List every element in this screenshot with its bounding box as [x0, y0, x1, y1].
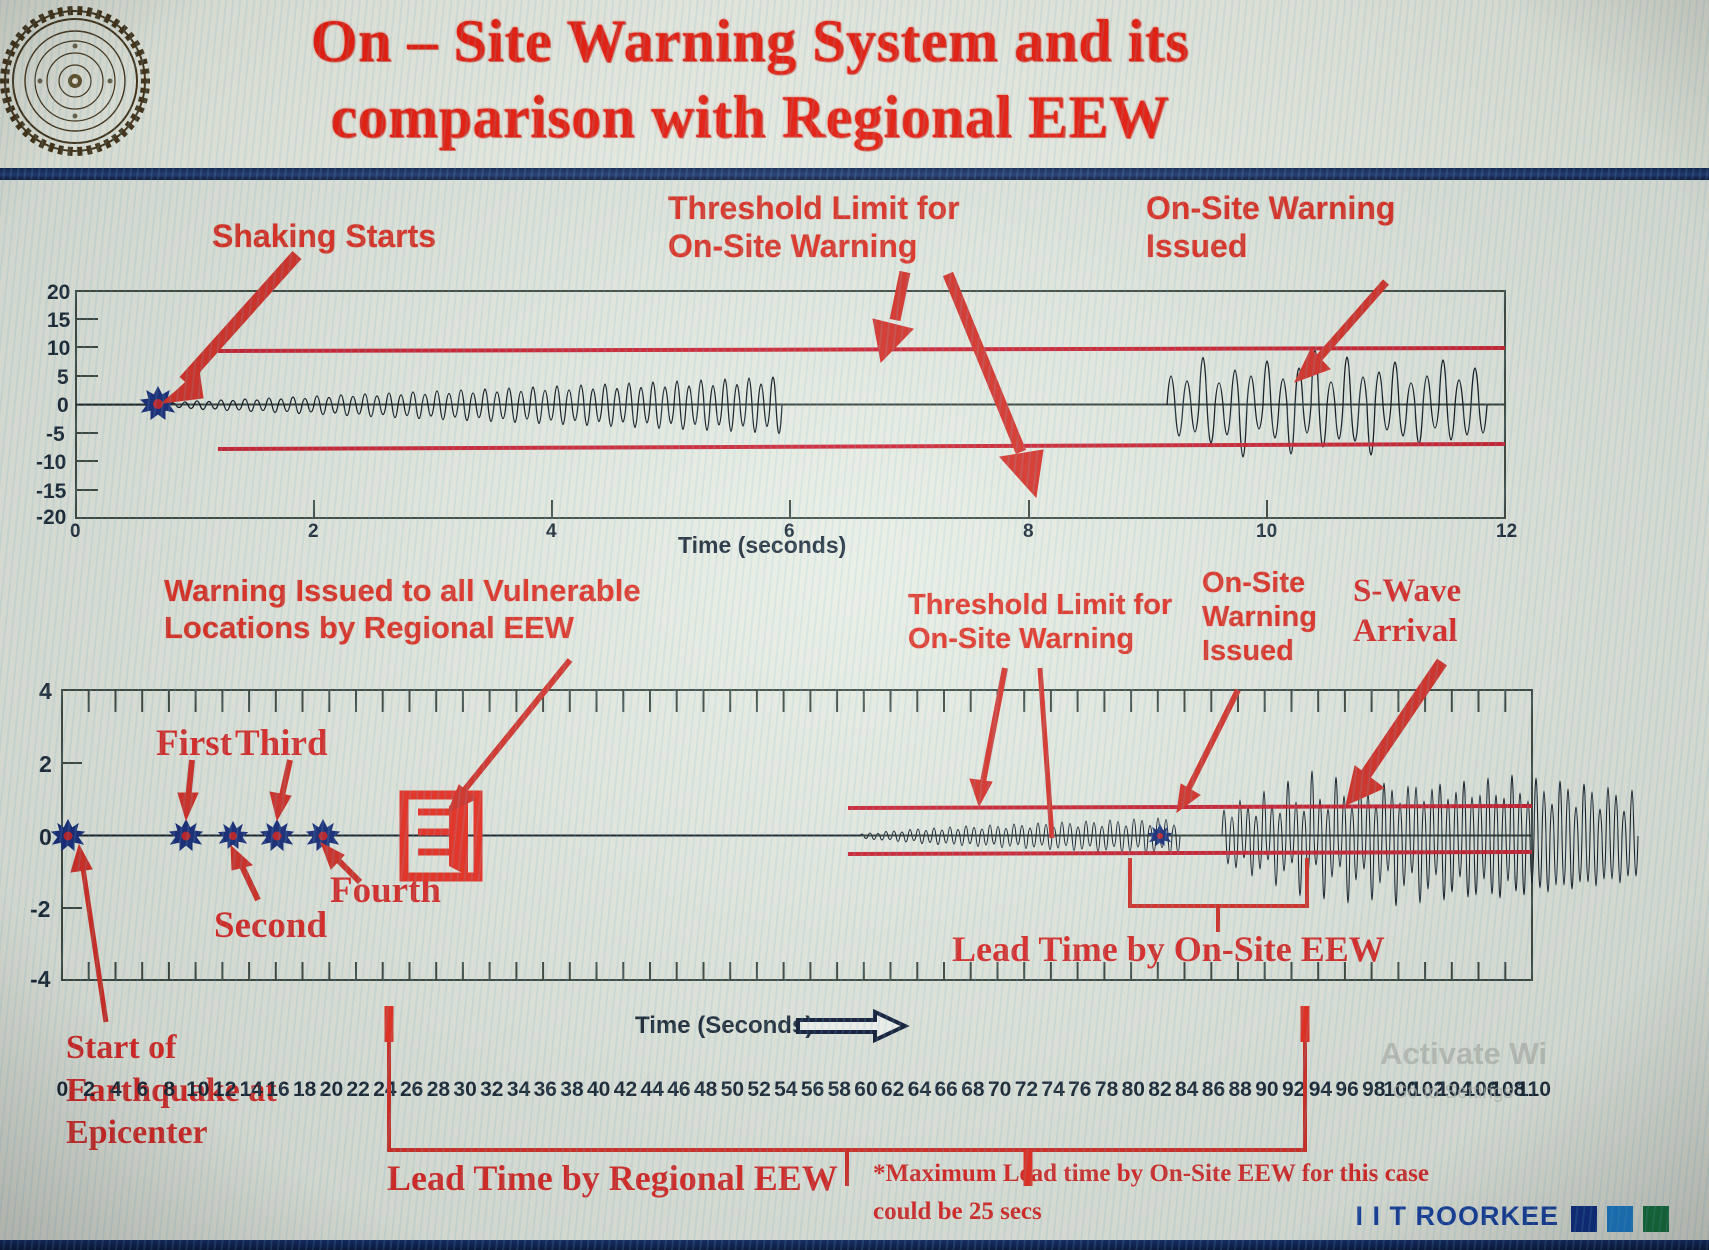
- bottom-chart-threshold-lower: [848, 852, 1532, 854]
- bottom-chart-svg: [0, 0, 1709, 1250]
- bottom-chart-xticks-bottom: [62, 962, 1532, 980]
- bottom-chart-xticks-top: [62, 690, 1532, 712]
- arrow-start-of-earthquake: [71, 845, 106, 1022]
- arrow-fourth: [321, 843, 360, 882]
- arrow-onsite-warning-issued-bottom: [1177, 690, 1238, 812]
- bottom-chart-event-marker-third: [261, 820, 293, 850]
- brace-lead-time-regional: [389, 1012, 1305, 1186]
- bottom-chart-event-marker-first: [170, 820, 202, 850]
- bottom-chart-event-marker-second: [219, 822, 247, 848]
- bottom-chart-trace-s: [1222, 771, 1638, 906]
- bottom-chart-trace-p: [860, 818, 1180, 855]
- bottom-chart-threshold-upper: [848, 806, 1532, 808]
- arrow-s-wave-arrival: [1346, 662, 1442, 805]
- brace-lead-time-onsite: [1130, 858, 1307, 932]
- arrow-third: [270, 760, 291, 820]
- time-direction-arrow-icon: [798, 1012, 905, 1040]
- slide-canvas: On – Site Warning System and its compari…: [0, 0, 1709, 1250]
- arrow-first: [178, 760, 198, 820]
- arrow-second: [231, 846, 258, 900]
- arrow-regional-warning: [448, 660, 570, 812]
- arrow-threshold-limit-bottom: [970, 668, 1005, 806]
